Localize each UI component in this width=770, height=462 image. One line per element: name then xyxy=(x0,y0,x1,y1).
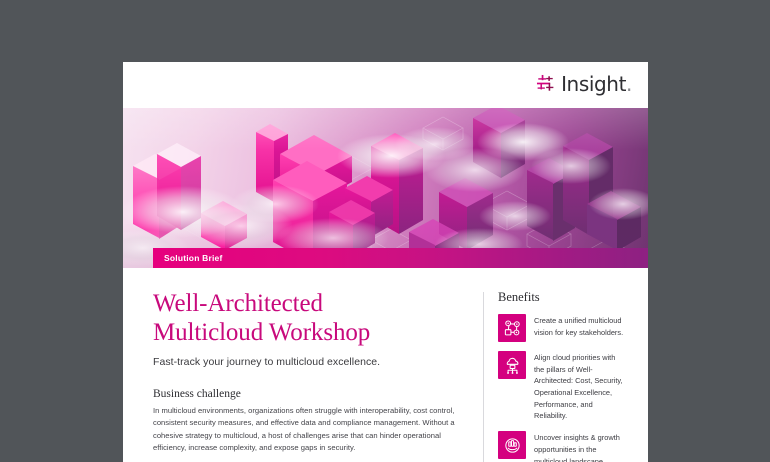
page-title-line-2: Multicloud Workshop xyxy=(153,319,370,346)
main-column: Well-Architected Multicloud Workshop Fas… xyxy=(153,290,483,462)
solution-brief-badge: Solution Brief xyxy=(153,248,648,268)
benefits-column: Benefits xyxy=(484,290,626,462)
benefit-text: Create a unified multicloud vision for k… xyxy=(534,314,626,338)
business-challenge-heading: Business challenge xyxy=(153,388,469,400)
hero-banner: Solution Brief xyxy=(123,108,648,268)
benefits-heading: Benefits xyxy=(498,290,626,305)
document-body: Well-Architected Multicloud Workshop Fas… xyxy=(123,268,648,462)
page-subtitle: Fast-track your journey to multicloud ex… xyxy=(153,356,469,368)
growth-insights-icon xyxy=(498,431,526,459)
insight-logo: Insight. xyxy=(535,73,632,94)
document-header: Insight. xyxy=(123,62,648,108)
cloud-pillars-icon xyxy=(498,351,526,379)
network-nodes-icon xyxy=(498,314,526,342)
benefit-text: Uncover insights & growth opportunities … xyxy=(534,431,626,462)
page-title: Well-Architected Multicloud Workshop xyxy=(153,290,469,347)
page-title-line-1: Well-Architected xyxy=(153,290,323,317)
solution-brief-label: Solution Brief xyxy=(153,254,223,263)
benefit-item: Create a unified multicloud vision for k… xyxy=(498,314,626,342)
insight-logo-mark xyxy=(535,73,556,94)
logo-period: . xyxy=(626,72,632,96)
hero-clouds xyxy=(123,108,648,268)
benefit-item: Align cloud priorities with the pillars … xyxy=(498,351,626,422)
insight-logo-text: Insight. xyxy=(561,74,632,94)
benefit-text: Align cloud priorities with the pillars … xyxy=(534,351,626,422)
benefit-item: Uncover insights & growth opportunities … xyxy=(498,431,626,462)
business-challenge-body: In multicloud environments, organization… xyxy=(153,405,469,454)
document-page: Insight. xyxy=(123,62,648,462)
